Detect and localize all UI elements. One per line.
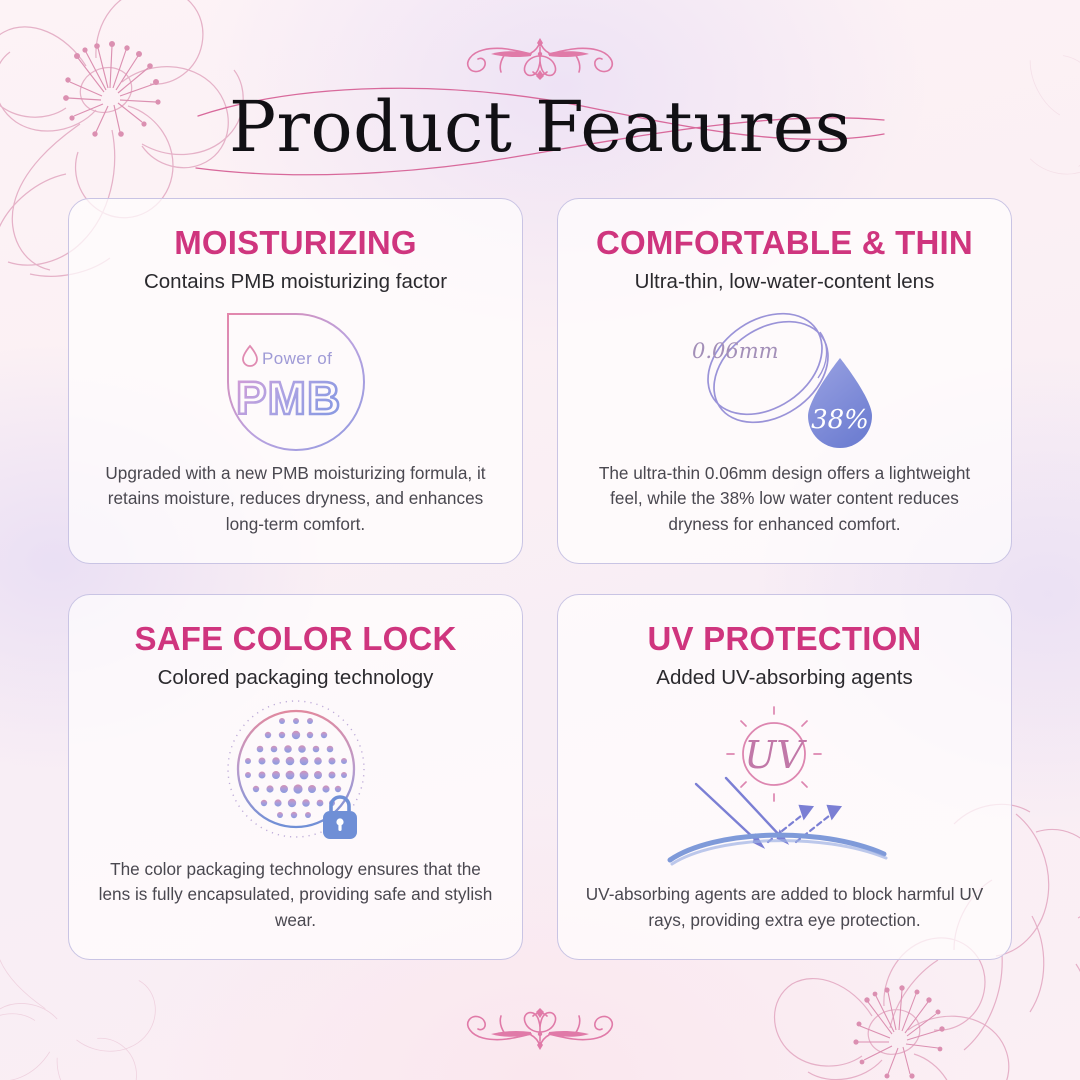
- pmb-power-badge-icon: Power of PMB: [91, 294, 500, 460]
- svg-text:38%: 38%: [811, 405, 869, 435]
- svg-text:PMB: PMB: [236, 372, 341, 424]
- svg-text:0.06mm: 0.06mm: [692, 339, 779, 363]
- card-body-text: UV-absorbing agents are added to block h…: [585, 882, 985, 939]
- ornament-flourish-top-icon: [445, 34, 635, 82]
- feature-card-safe-color-lock[interactable]: SAFE COLOR LOCK Colored packaging techno…: [68, 594, 523, 960]
- card-body-text: Upgraded with a new PMB moisturizing for…: [96, 461, 496, 543]
- card-title: UV PROTECTION: [648, 621, 922, 657]
- ornament-flourish-bottom-icon: [445, 1006, 635, 1054]
- card-subtitle: Ultra-thin, low-water-content lens: [635, 270, 935, 295]
- uv-shield-icon: UV: [580, 690, 989, 882]
- color-lock-lens-icon: [91, 690, 500, 856]
- feature-card-moisturizing[interactable]: MOISTURIZING Contains PMB moisturizing f…: [68, 198, 523, 564]
- feature-cards-grid: MOISTURIZING Contains PMB moisturizing f…: [68, 198, 1012, 960]
- page-title: Product Features: [0, 92, 1080, 162]
- card-title: COMFORTABLE & THIN: [596, 225, 973, 261]
- card-body-text: The ultra-thin 0.06mm design offers a li…: [585, 461, 985, 543]
- page-title-wrap: Product Features: [0, 92, 1080, 162]
- card-title: SAFE COLOR LOCK: [135, 621, 457, 657]
- thin-lens-water-drop-icon: 0.06mm 38%: [580, 294, 989, 460]
- card-subtitle: Added UV-absorbing agents: [656, 666, 912, 691]
- card-title: MOISTURIZING: [174, 225, 417, 261]
- card-subtitle: Contains PMB moisturizing factor: [144, 270, 447, 295]
- card-subtitle: Colored packaging technology: [158, 666, 434, 691]
- feature-card-uv-protection[interactable]: UV PROTECTION Added UV-absorbing agents …: [557, 594, 1012, 960]
- svg-text:Power of: Power of: [262, 349, 332, 368]
- card-body-text: The color packaging technology ensures t…: [96, 857, 496, 939]
- svg-text:UV: UV: [744, 733, 807, 777]
- feature-card-comfortable-and-thin[interactable]: COMFORTABLE & THIN Ultra-thin, low-water…: [557, 198, 1012, 564]
- page-header: Product Features: [0, 0, 1080, 200]
